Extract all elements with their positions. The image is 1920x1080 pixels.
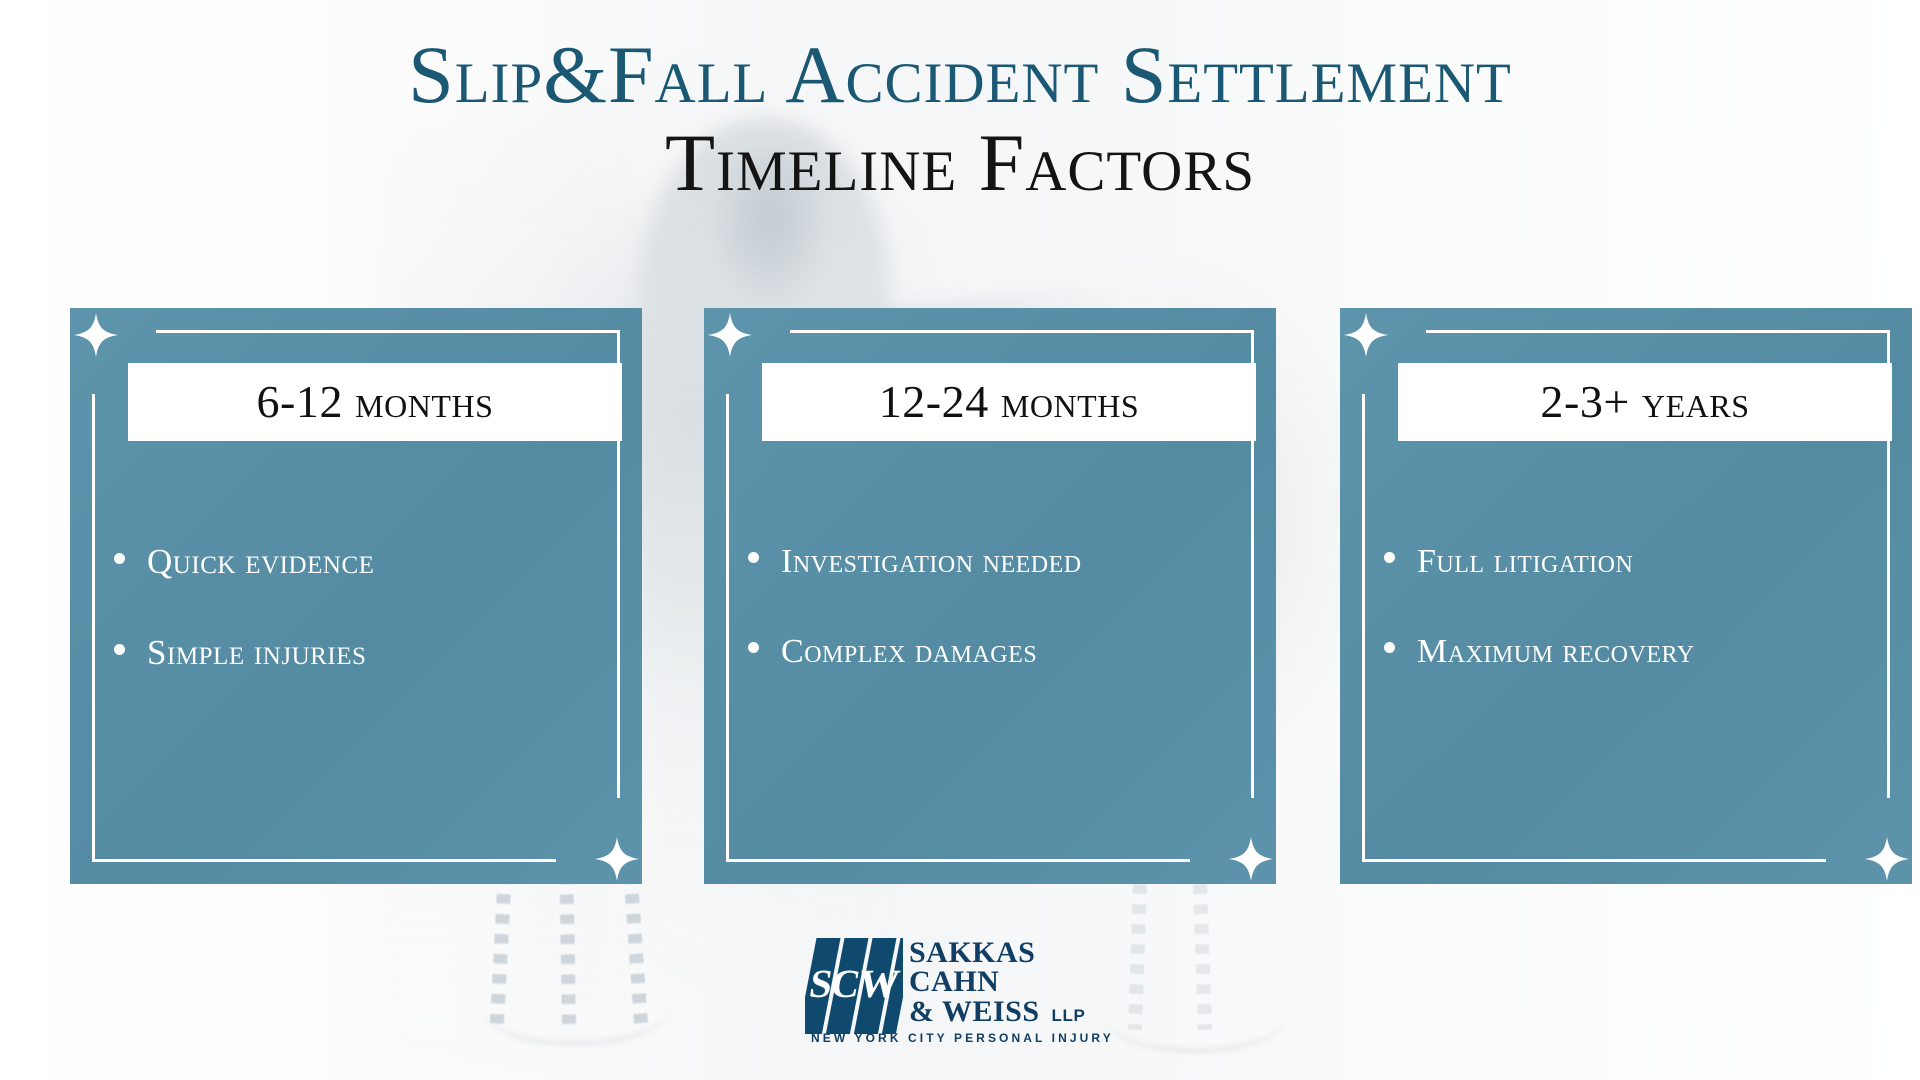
page-title-line-1: Slip&Fall Accident Settlement [0,34,1920,116]
logo-name-line-3-row: & WEISS LLP [909,997,1114,1026]
logo-monogram-text: SCW [802,964,906,1004]
sparkle-icon [73,312,119,358]
card-header-label: 6-12 months [256,379,493,425]
card-frame-left [1362,394,1365,862]
logo-name-line-1: SAKKAS [909,938,1114,967]
bullet-dot-icon [748,552,759,563]
logo-wordmark: SAKKAS CAHN & WEISS LLP NEW YORK CITY PE… [909,938,1114,1045]
timeline-card-2-3-plus-years[interactable]: 2-3+ years Full litigation Maximum recov… [1340,308,1912,884]
list-item-label: Maximum recovery [1417,634,1695,670]
card-header-badge: 2-3+ years [1398,363,1892,441]
card-frame-left [92,394,95,862]
list-item: Maximum recovery [1384,634,1876,670]
list-item: Full litigation [1384,544,1876,580]
card-frame-left [726,394,729,862]
card-frame-top [156,330,620,333]
card-header-label: 2-3+ years [1540,379,1749,425]
card-bullet-list: Quick evidence Simple injuries [114,544,606,672]
list-item: Complex damages [748,634,1240,670]
sparkle-icon [1864,836,1910,882]
card-frame-top [790,330,1254,333]
list-item-label: Simple injuries [147,635,366,672]
bullet-dot-icon [1384,552,1395,563]
card-header-badge: 12-24 months [762,363,1256,441]
page-title: Slip&Fall Accident Settlement Timeline F… [0,34,1920,204]
firm-logo[interactable]: SCW SAKKAS CAHN & WEISS LLP NEW YORK CIT… [805,938,1114,1045]
card-frame-top [1426,330,1890,333]
bullet-dot-icon [1384,642,1395,653]
card-frame-bottom [92,859,556,862]
list-item-label: Full litigation [1417,544,1633,580]
list-item: Investigation needed [748,544,1240,580]
sparkle-icon [1228,836,1274,882]
scw-monogram-icon: SCW [805,938,903,1034]
logo-name-line-3: & WEISS [909,997,1040,1026]
sparkle-icon [594,836,640,882]
list-item: Quick evidence [114,544,606,581]
list-item-label: Complex damages [781,634,1037,670]
list-item-label: Quick evidence [147,544,374,581]
card-bullet-list: Investigation needed Complex damages [748,544,1240,669]
card-frame-bottom [726,859,1190,862]
bullet-dot-icon [114,553,125,564]
list-item-label: Investigation needed [781,544,1082,580]
timeline-card-12-24-months[interactable]: 12-24 months Investigation needed Comple… [704,308,1276,884]
sparkle-icon [1343,312,1389,358]
sparkle-icon [707,312,753,358]
timeline-card-6-12-months[interactable]: 6-12 months Quick evidence Simple injuri… [70,308,642,884]
card-header-badge: 6-12 months [128,363,622,441]
bullet-dot-icon [748,642,759,653]
card-frame-bottom [1362,859,1826,862]
card-bullet-list: Full litigation Maximum recovery [1384,544,1876,669]
logo-suffix: LLP [1052,1006,1086,1026]
page-title-line-2: Timeline Factors [0,122,1920,204]
logo-name-line-2: CAHN [909,967,1114,996]
list-item: Simple injuries [114,635,606,672]
card-header-label: 12-24 months [879,379,1140,425]
bullet-dot-icon [114,644,125,655]
